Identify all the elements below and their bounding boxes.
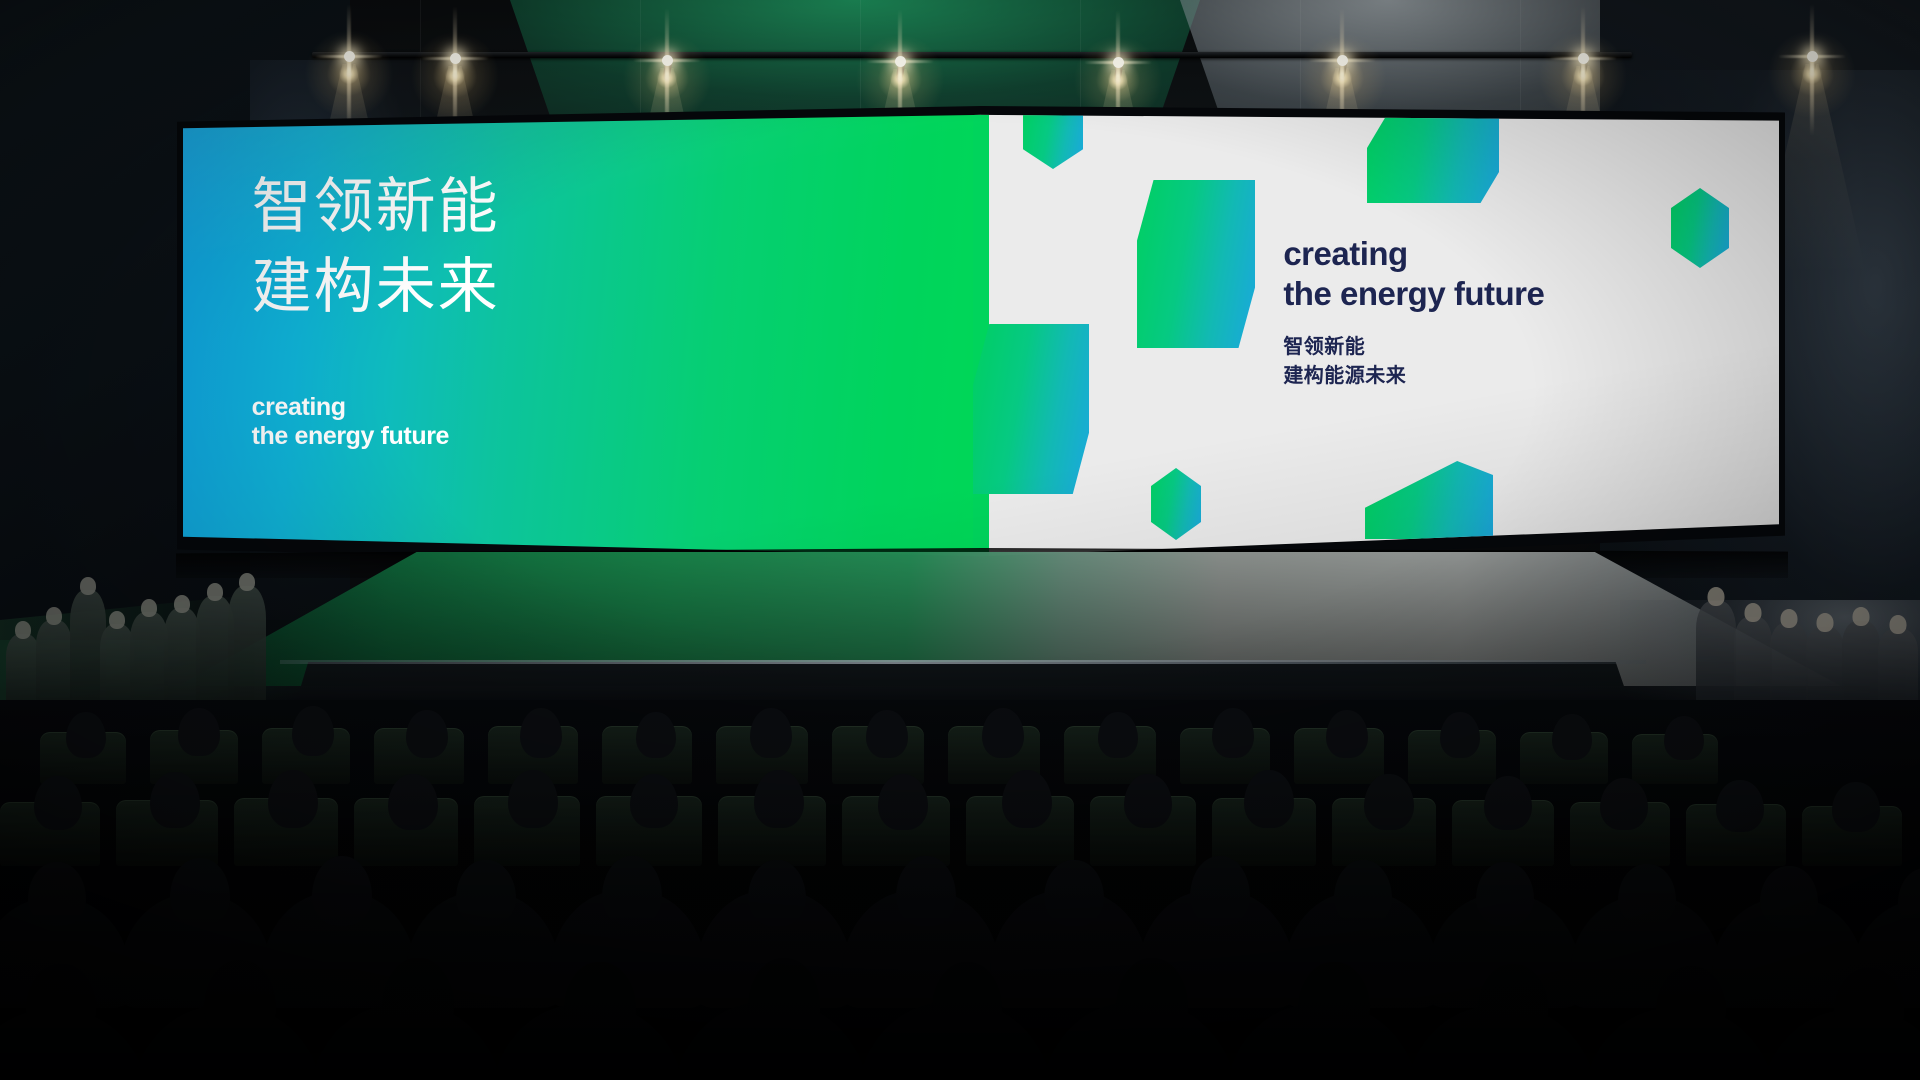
audience-head	[748, 860, 806, 926]
audience-head	[204, 960, 276, 1042]
audience-head	[1600, 778, 1648, 830]
audience-head	[1244, 770, 1294, 828]
audience-head	[878, 774, 928, 830]
audience-head	[268, 770, 318, 828]
audience-head	[602, 856, 662, 926]
right-panel-text-block: creating the energy future 智领新能 建构能源未来	[1283, 234, 1544, 392]
audience-head	[866, 710, 908, 758]
audience-head	[750, 708, 792, 758]
right-subline-cn-line2: 建构能源未来	[1283, 362, 1544, 391]
audience-head	[1476, 862, 1534, 926]
spotlight-streak-icon	[1810, 4, 1814, 136]
audience-head-icon	[239, 573, 255, 591]
left-tagline-en-line2: the energy future	[252, 422, 500, 452]
audience-head-icon	[1890, 615, 1907, 634]
audience-head	[1478, 964, 1548, 1042]
ceiling-light-track	[312, 52, 1632, 58]
audience-head	[1832, 782, 1880, 832]
audience-head	[1044, 860, 1104, 926]
audience-head	[1760, 866, 1818, 928]
spotlight-core-icon	[1807, 51, 1818, 62]
stage-riser-edge	[280, 660, 1646, 664]
audience-head	[178, 708, 220, 756]
audience-head	[1212, 708, 1254, 758]
audience-head-icon	[80, 577, 96, 595]
audience-head-icon	[46, 607, 62, 625]
right-headline-en-line2: the energy future	[1283, 274, 1544, 314]
audience-head	[1618, 864, 1676, 926]
spotlight-core-icon	[450, 53, 461, 64]
audience-head	[748, 958, 820, 1042]
audience-head	[34, 776, 82, 830]
audience-head	[636, 712, 676, 758]
audience-foreground	[0, 700, 1920, 1080]
slide-left-panel: 智领新能 建构未来 creating the energy future	[183, 114, 981, 558]
audience-head	[382, 958, 454, 1042]
spotlight-core-icon	[895, 56, 906, 67]
hexagon-cube-large-shape	[1137, 180, 1255, 348]
audience-head	[292, 706, 334, 756]
hexagon-cube-bottom-shape	[1365, 461, 1493, 539]
audience-head	[1002, 770, 1052, 828]
audience-head	[1716, 780, 1764, 832]
spotlight-core-icon	[1113, 57, 1124, 68]
audience-head	[1326, 710, 1368, 758]
stage-scene: 智领新能 建构未来 creating the energy future cre…	[0, 0, 1920, 1080]
left-tagline-en-line1: creating	[252, 393, 500, 423]
spotlight-core-icon	[662, 55, 673, 66]
spotlight-core-icon	[344, 51, 355, 62]
audience-head	[1484, 776, 1532, 830]
audience-figure	[228, 586, 266, 710]
left-headline-cn-line1: 智领新能	[252, 167, 500, 247]
audience-head	[564, 962, 636, 1042]
audience-head	[1364, 774, 1414, 830]
audience-head-icon	[1817, 613, 1834, 632]
hexagon-cube-small-low-shape	[1151, 468, 1201, 540]
audience-head-icon	[15, 621, 31, 639]
audience-head-icon	[1781, 609, 1798, 628]
audience-head	[1834, 968, 1904, 1044]
hexagon-cube-wide-top-shape	[1367, 117, 1499, 203]
audience-head	[508, 770, 558, 828]
curved-led-wall[interactable]: 智领新能 建构未来 creating the energy future cre…	[183, 114, 1779, 558]
spotlight-core-icon	[1337, 55, 1348, 66]
audience-head	[1298, 962, 1370, 1042]
audience-head	[1334, 860, 1392, 926]
audience-head-icon	[109, 611, 125, 629]
audience-head	[170, 858, 230, 926]
audience-head	[1190, 856, 1250, 926]
audience-head	[1098, 712, 1138, 758]
audience-head-icon	[174, 595, 190, 613]
audience-head-icon	[207, 583, 223, 601]
audience-head	[312, 856, 372, 926]
audience-head	[754, 770, 804, 828]
spotlight-core-icon	[1578, 53, 1589, 64]
audience-head	[388, 774, 438, 830]
audience-figure	[164, 608, 200, 714]
audience-head	[456, 860, 516, 926]
audience-head	[1440, 712, 1480, 758]
audience-head	[66, 712, 106, 758]
audience-head	[26, 964, 96, 1042]
audience-head-icon	[141, 599, 157, 617]
audience-head-icon	[1708, 587, 1725, 606]
left-headline-cn-line2: 建构未来	[252, 247, 500, 327]
audience-head	[630, 774, 678, 828]
left-panel-text-block: 智领新能 建构未来 creating the energy future	[252, 167, 500, 452]
audience-head	[28, 862, 86, 926]
audience-head	[1124, 774, 1172, 828]
right-headline-en-line1: creating	[1283, 234, 1544, 274]
audience-head-icon	[1745, 603, 1762, 622]
led-wall-surface[interactable]: 智领新能 建构未来 creating the energy future cre…	[183, 114, 1779, 558]
audience-head	[150, 772, 200, 828]
audience-head	[406, 710, 448, 758]
audience-head	[520, 708, 562, 758]
audience-head	[1664, 716, 1704, 760]
hexagon-cube-top-small-shape	[1023, 114, 1083, 169]
audience-head	[896, 856, 956, 926]
audience-head	[1552, 714, 1592, 760]
audience-head	[1656, 966, 1726, 1042]
hexagon-cube-right-edge-shape	[1671, 188, 1729, 268]
right-subline-cn-line1: 智领新能	[1283, 333, 1544, 362]
audience-head	[1116, 958, 1188, 1042]
audience-head	[932, 962, 1002, 1042]
audience-head-icon	[1853, 607, 1870, 626]
audience-head	[982, 708, 1024, 758]
slide-right-panel: creating the energy future 智领新能 建构能源未来	[973, 114, 1779, 558]
hexagon-cube-mid-left-shape	[973, 324, 1089, 494]
